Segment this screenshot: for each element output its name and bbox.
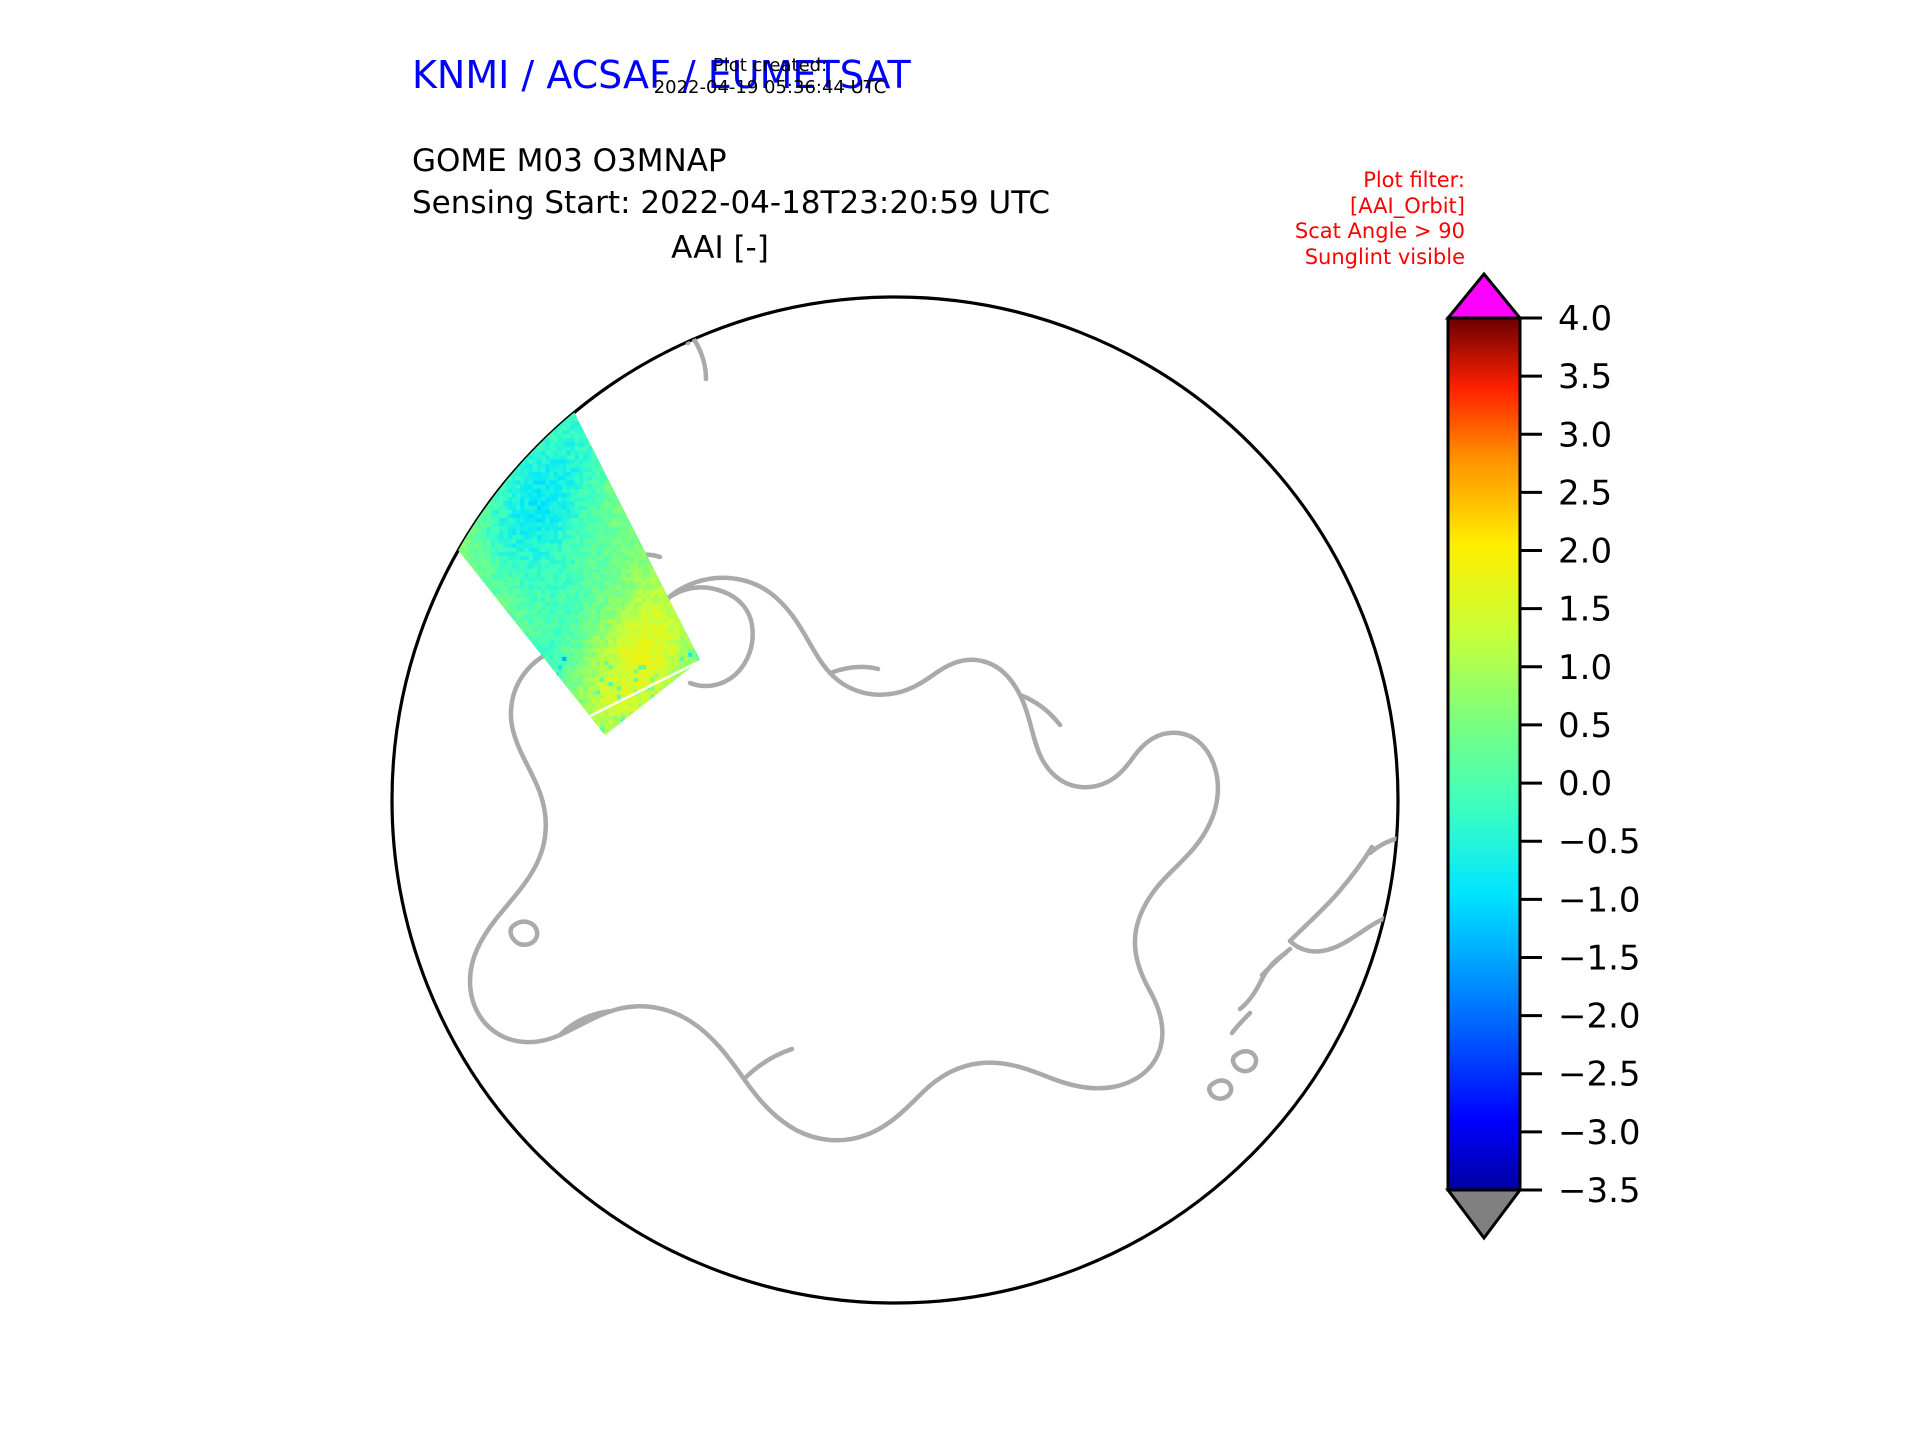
colorbar-tick-label: 1.5: [1558, 590, 1612, 630]
colorbar-tick-label: 1.0: [1558, 648, 1612, 688]
colorbar-over-arrow: [1448, 274, 1520, 318]
product-info-block: GOME M03 O3MNAP Sensing Start: 2022-04-1…: [412, 140, 1050, 224]
product-name: GOME M03 O3MNAP: [412, 140, 1050, 182]
colorbar-container: 4.03.53.02.52.01.51.00.50.0−0.5−1.0−1.5−…: [1430, 270, 1830, 1300]
colorbar-tick-label: 0.0: [1558, 764, 1612, 804]
sensing-start: Sensing Start: 2022-04-18T23:20:59 UTC: [412, 182, 1050, 224]
colorbar-tick-label: 4.0: [1558, 299, 1612, 339]
plot-created-label: Plot created:: [560, 55, 980, 77]
filter-name: [AAI_Orbit]: [1065, 194, 1465, 220]
plot-created-timestamp: 2022-04-19 05:36:44 UTC: [560, 77, 980, 99]
colorbar-tick-label: −1.5: [1558, 938, 1641, 978]
plot-canvas: KNMI / ACSAF / EUMETSAT Plot created: 20…: [0, 0, 1920, 1440]
colorbar-tick-label: 3.0: [1558, 415, 1612, 455]
map-container: [360, 265, 1430, 1335]
colorbar-under-arrow: [1448, 1190, 1520, 1238]
colorbar-tick-label: −1.0: [1558, 880, 1641, 920]
colorbar-tick-label: 3.5: [1558, 357, 1612, 397]
colorbar-tick-label: −0.5: [1558, 822, 1641, 862]
filter-label: Plot filter:: [1065, 168, 1465, 194]
plot-filter-block: Plot filter: [AAI_Orbit] Scat Angle > 90…: [1065, 168, 1465, 270]
colorbar-tick-label: −3.0: [1558, 1113, 1641, 1153]
plot-created-block: Plot created: 2022-04-19 05:36:44 UTC: [560, 55, 980, 99]
colorbar-tick-label: −2.5: [1558, 1055, 1641, 1095]
filter-scat-angle: Scat Angle > 90: [1065, 219, 1465, 245]
colorbar-tick-label: −3.5: [1558, 1171, 1641, 1211]
colorbar-tick-label: 2.5: [1558, 473, 1612, 513]
colorbar-tick-label: 2.0: [1558, 532, 1612, 572]
colorbar-tick-label: −2.0: [1558, 997, 1641, 1037]
colorbar-ticks: 4.03.53.02.52.01.51.00.50.0−0.5−1.0−1.5−…: [1520, 299, 1641, 1211]
colorbar-tick-label: 0.5: [1558, 706, 1612, 746]
colorbar-gradient: [1448, 318, 1520, 1190]
